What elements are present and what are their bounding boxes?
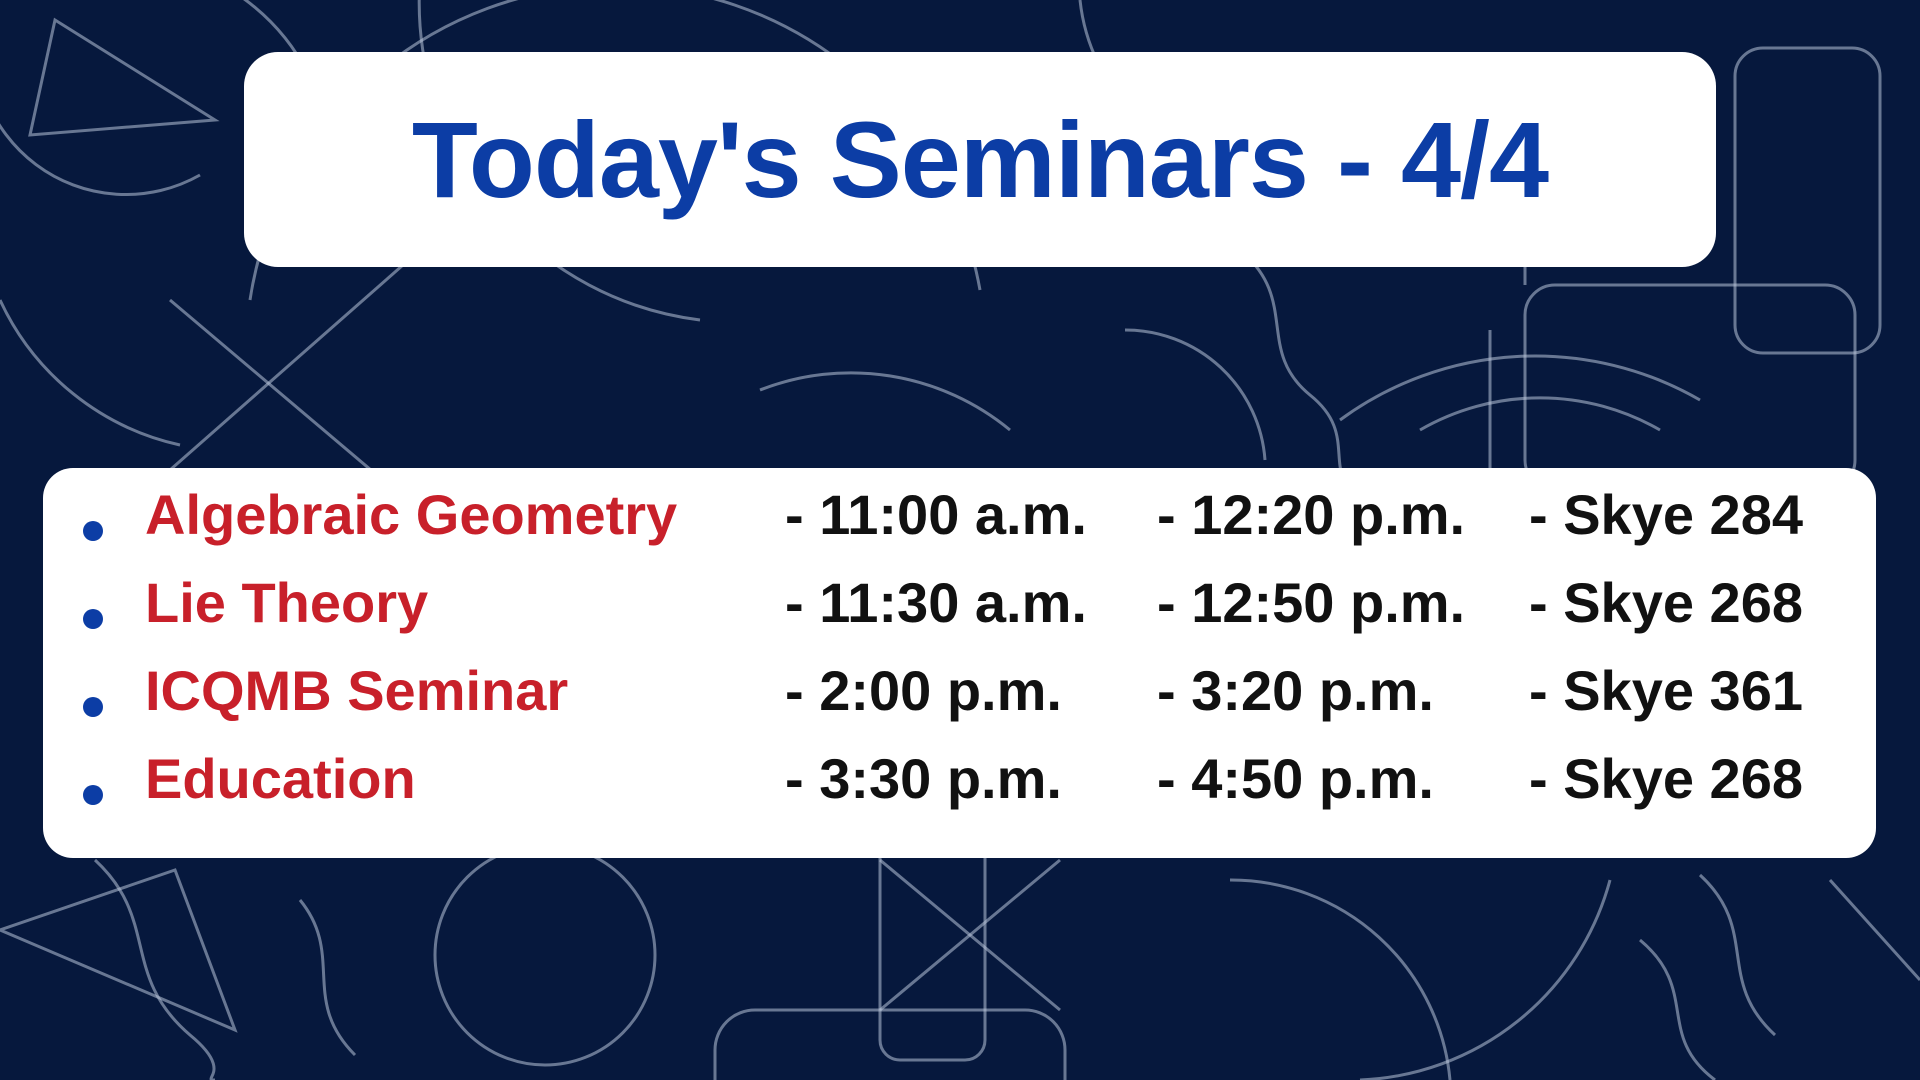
seminar-end-time: - 3:20 p.m.	[1157, 663, 1529, 719]
table-row: Lie Theory - 11:30 a.m. - 12:50 p.m. - S…	[83, 575, 1848, 663]
bullet-icon	[83, 575, 145, 663]
seminar-end-time: - 12:20 p.m.	[1157, 487, 1529, 543]
seminar-list-card: Algebraic Geometry - 11:00 a.m. - 12:20 …	[43, 468, 1876, 858]
slide-content: Today's Seminars - 4/4 Algebraic Geometr…	[0, 0, 1920, 1080]
table-row: Education - 3:30 p.m. - 4:50 p.m. - Skye…	[83, 751, 1848, 839]
seminar-room: - Skye 268	[1529, 751, 1848, 807]
bullet-icon	[83, 663, 145, 751]
seminar-name: Algebraic Geometry	[145, 487, 785, 543]
seminar-start-time: - 3:30 p.m.	[785, 751, 1157, 807]
seminar-room: - Skye 284	[1529, 487, 1848, 543]
title-card: Today's Seminars - 4/4	[244, 52, 1716, 267]
bullet-icon	[83, 751, 145, 839]
seminar-room: - Skye 361	[1529, 663, 1848, 719]
seminar-end-time: - 4:50 p.m.	[1157, 751, 1529, 807]
seminar-start-time: - 11:00 a.m.	[785, 487, 1157, 543]
seminar-start-time: - 2:00 p.m.	[785, 663, 1157, 719]
bullet-icon	[83, 487, 145, 575]
seminar-name: ICQMB Seminar	[145, 663, 785, 719]
seminar-room: - Skye 268	[1529, 575, 1848, 631]
page-title: Today's Seminars - 4/4	[412, 106, 1548, 214]
table-row: Algebraic Geometry - 11:00 a.m. - 12:20 …	[83, 487, 1848, 575]
seminar-name: Lie Theory	[145, 575, 785, 631]
table-row: ICQMB Seminar - 2:00 p.m. - 3:20 p.m. - …	[83, 663, 1848, 751]
seminar-end-time: - 12:50 p.m.	[1157, 575, 1529, 631]
seminar-name: Education	[145, 751, 785, 807]
seminar-start-time: - 11:30 a.m.	[785, 575, 1157, 631]
